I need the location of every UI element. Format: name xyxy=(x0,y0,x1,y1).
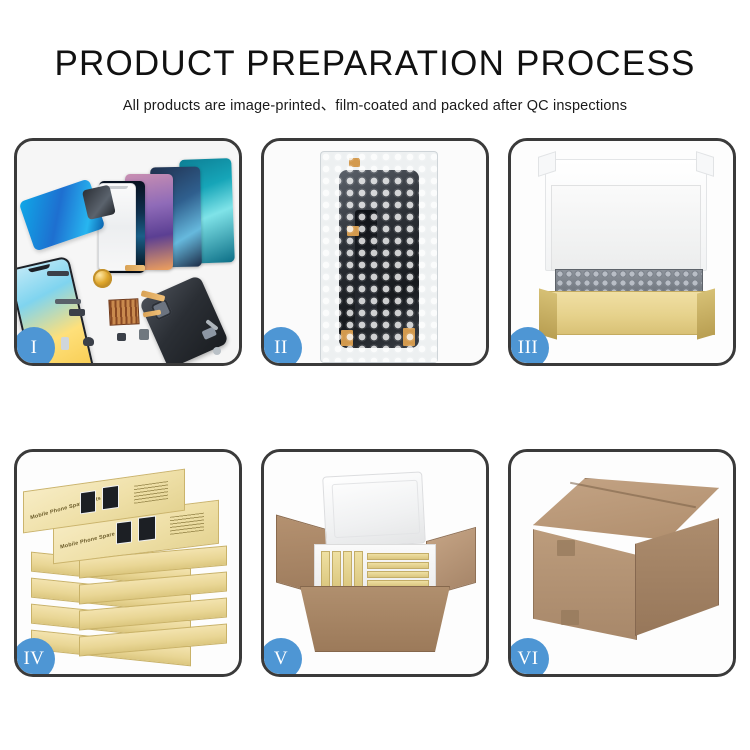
spare-part-chip xyxy=(61,337,69,350)
box-artwork-screen-3 xyxy=(116,520,132,544)
step-card-6: VI xyxy=(508,449,736,677)
step-badge-2: II xyxy=(261,327,302,366)
page-title: PRODUCT PREPARATION PROCESS xyxy=(0,44,750,84)
step-badge-1: I xyxy=(14,327,55,366)
gold-coil-part xyxy=(93,269,112,288)
carton-front-face xyxy=(533,522,637,640)
foam-padding-sheet xyxy=(551,185,701,271)
peeled-blue-screen xyxy=(19,178,106,251)
packed-box-4 xyxy=(354,551,363,589)
spare-part-button xyxy=(117,333,126,341)
bubble-wrap-texture xyxy=(321,152,437,362)
packed-box-2 xyxy=(332,551,341,589)
step-badge-3: III xyxy=(508,327,549,366)
product-preparation-infographic: PRODUCT PREPARATION PROCESS All products… xyxy=(0,0,750,750)
page-subtitle: All products are image-printed、film-coat… xyxy=(0,94,750,115)
box-artwork-screen-4 xyxy=(138,516,156,542)
bubble-wrap-sleeve xyxy=(320,151,438,363)
packed-box-8 xyxy=(367,580,429,587)
packed-box-1 xyxy=(321,551,330,589)
spare-part-connector xyxy=(69,309,85,316)
styrofoam-lid xyxy=(322,471,426,548)
step-card-4: Mobile Phone Spare Parts Mobile Phone Sp… xyxy=(14,449,242,677)
step-image-carton-packing xyxy=(264,452,486,674)
step-card-3: III xyxy=(508,138,736,366)
step-badge-5: V xyxy=(261,638,302,677)
packing-tape-lower xyxy=(561,610,579,625)
packed-box-7 xyxy=(367,571,429,578)
step-image-stacked-boxes: Mobile Phone Spare Parts Mobile Phone Sp… xyxy=(17,452,239,674)
yellow-cardboard-box xyxy=(539,291,715,335)
step-card-1: I xyxy=(14,138,242,366)
step-badge-6: VI xyxy=(508,638,549,677)
spare-part-strip xyxy=(55,299,81,304)
step-image-screens-and-parts xyxy=(17,141,239,363)
carton-body xyxy=(300,586,450,652)
packed-box-5 xyxy=(367,553,429,560)
box-artwork-screen-2 xyxy=(102,485,119,510)
spare-part-camera xyxy=(139,329,149,340)
packing-tape-upper xyxy=(557,540,575,556)
step-image-bubble-wrapped-part xyxy=(264,141,486,363)
box-spec-lines-2 xyxy=(170,513,204,535)
flex-cable-1 xyxy=(125,265,145,271)
spare-part-bar xyxy=(47,271,69,276)
step-card-2: II xyxy=(261,138,489,366)
box-stack: Mobile Phone Spare Parts Mobile Phone Sp… xyxy=(17,452,239,674)
header: PRODUCT PREPARATION PROCESS All products… xyxy=(0,44,750,115)
box-spec-lines-1 xyxy=(134,481,168,504)
copper-mesh-grid-part xyxy=(108,298,139,326)
spare-part-speaker xyxy=(83,337,94,346)
spare-part-screw xyxy=(213,347,221,355)
packed-box-3 xyxy=(343,551,352,589)
process-steps-grid: I II xyxy=(14,138,736,677)
packed-box-6 xyxy=(367,562,429,569)
step-image-sealed-carton xyxy=(511,452,733,674)
step-image-foam-lined-box xyxy=(511,141,733,363)
box-artwork-screen-1 xyxy=(80,490,96,514)
step-badge-4: IV xyxy=(14,638,55,677)
step-card-5: V xyxy=(261,449,489,677)
